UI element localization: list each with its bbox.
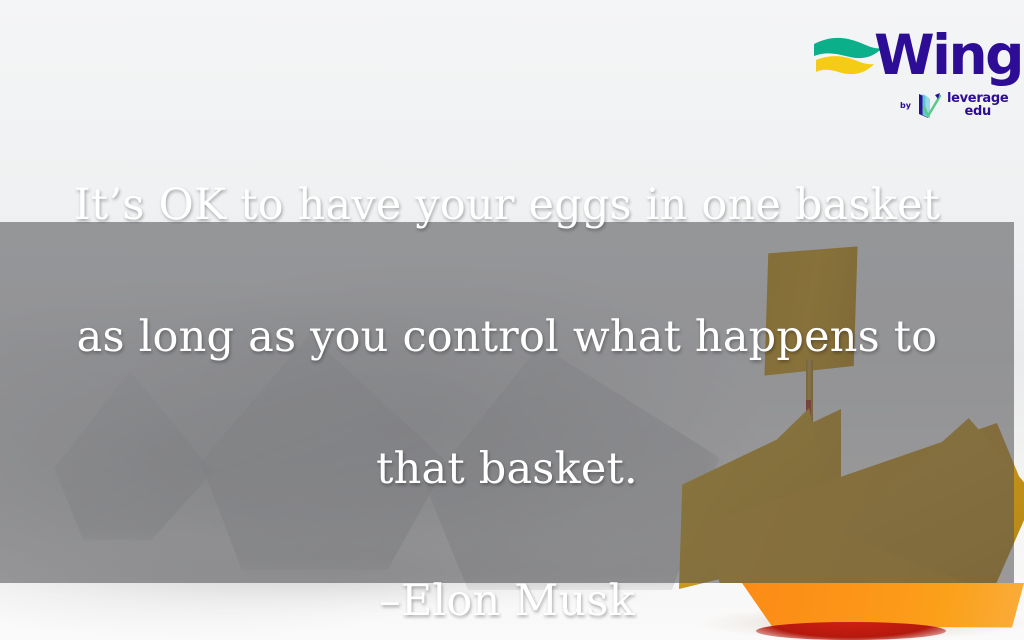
quote-overlay-band: It’s OK to have your eggs in one basket … xyxy=(0,222,1014,583)
quote-line-2: as long as you control what happens to xyxy=(0,304,1014,370)
wings-logo[interactable]: Wings by leverage edu xyxy=(812,24,998,128)
quote-line-3: that basket. xyxy=(0,436,1014,502)
quote-block: It’s OK to have your eggs in one basket … xyxy=(0,106,1014,640)
quote-attribution: –Elon Musk xyxy=(0,568,1014,634)
wings-wordmark: Wings xyxy=(874,28,1024,83)
leverage-edu-wordmark: leverage edu xyxy=(947,92,1008,118)
leverage-edu-book-icon xyxy=(916,90,942,120)
quote-card: It’s OK to have your eggs in one basket … xyxy=(0,0,1024,640)
wings-sub-logo: by leverage edu xyxy=(900,90,1008,120)
edu-label: edu xyxy=(947,105,1008,118)
quote-line-1: It’s OK to have your eggs in one basket xyxy=(0,172,1014,238)
by-label: by xyxy=(900,101,911,110)
